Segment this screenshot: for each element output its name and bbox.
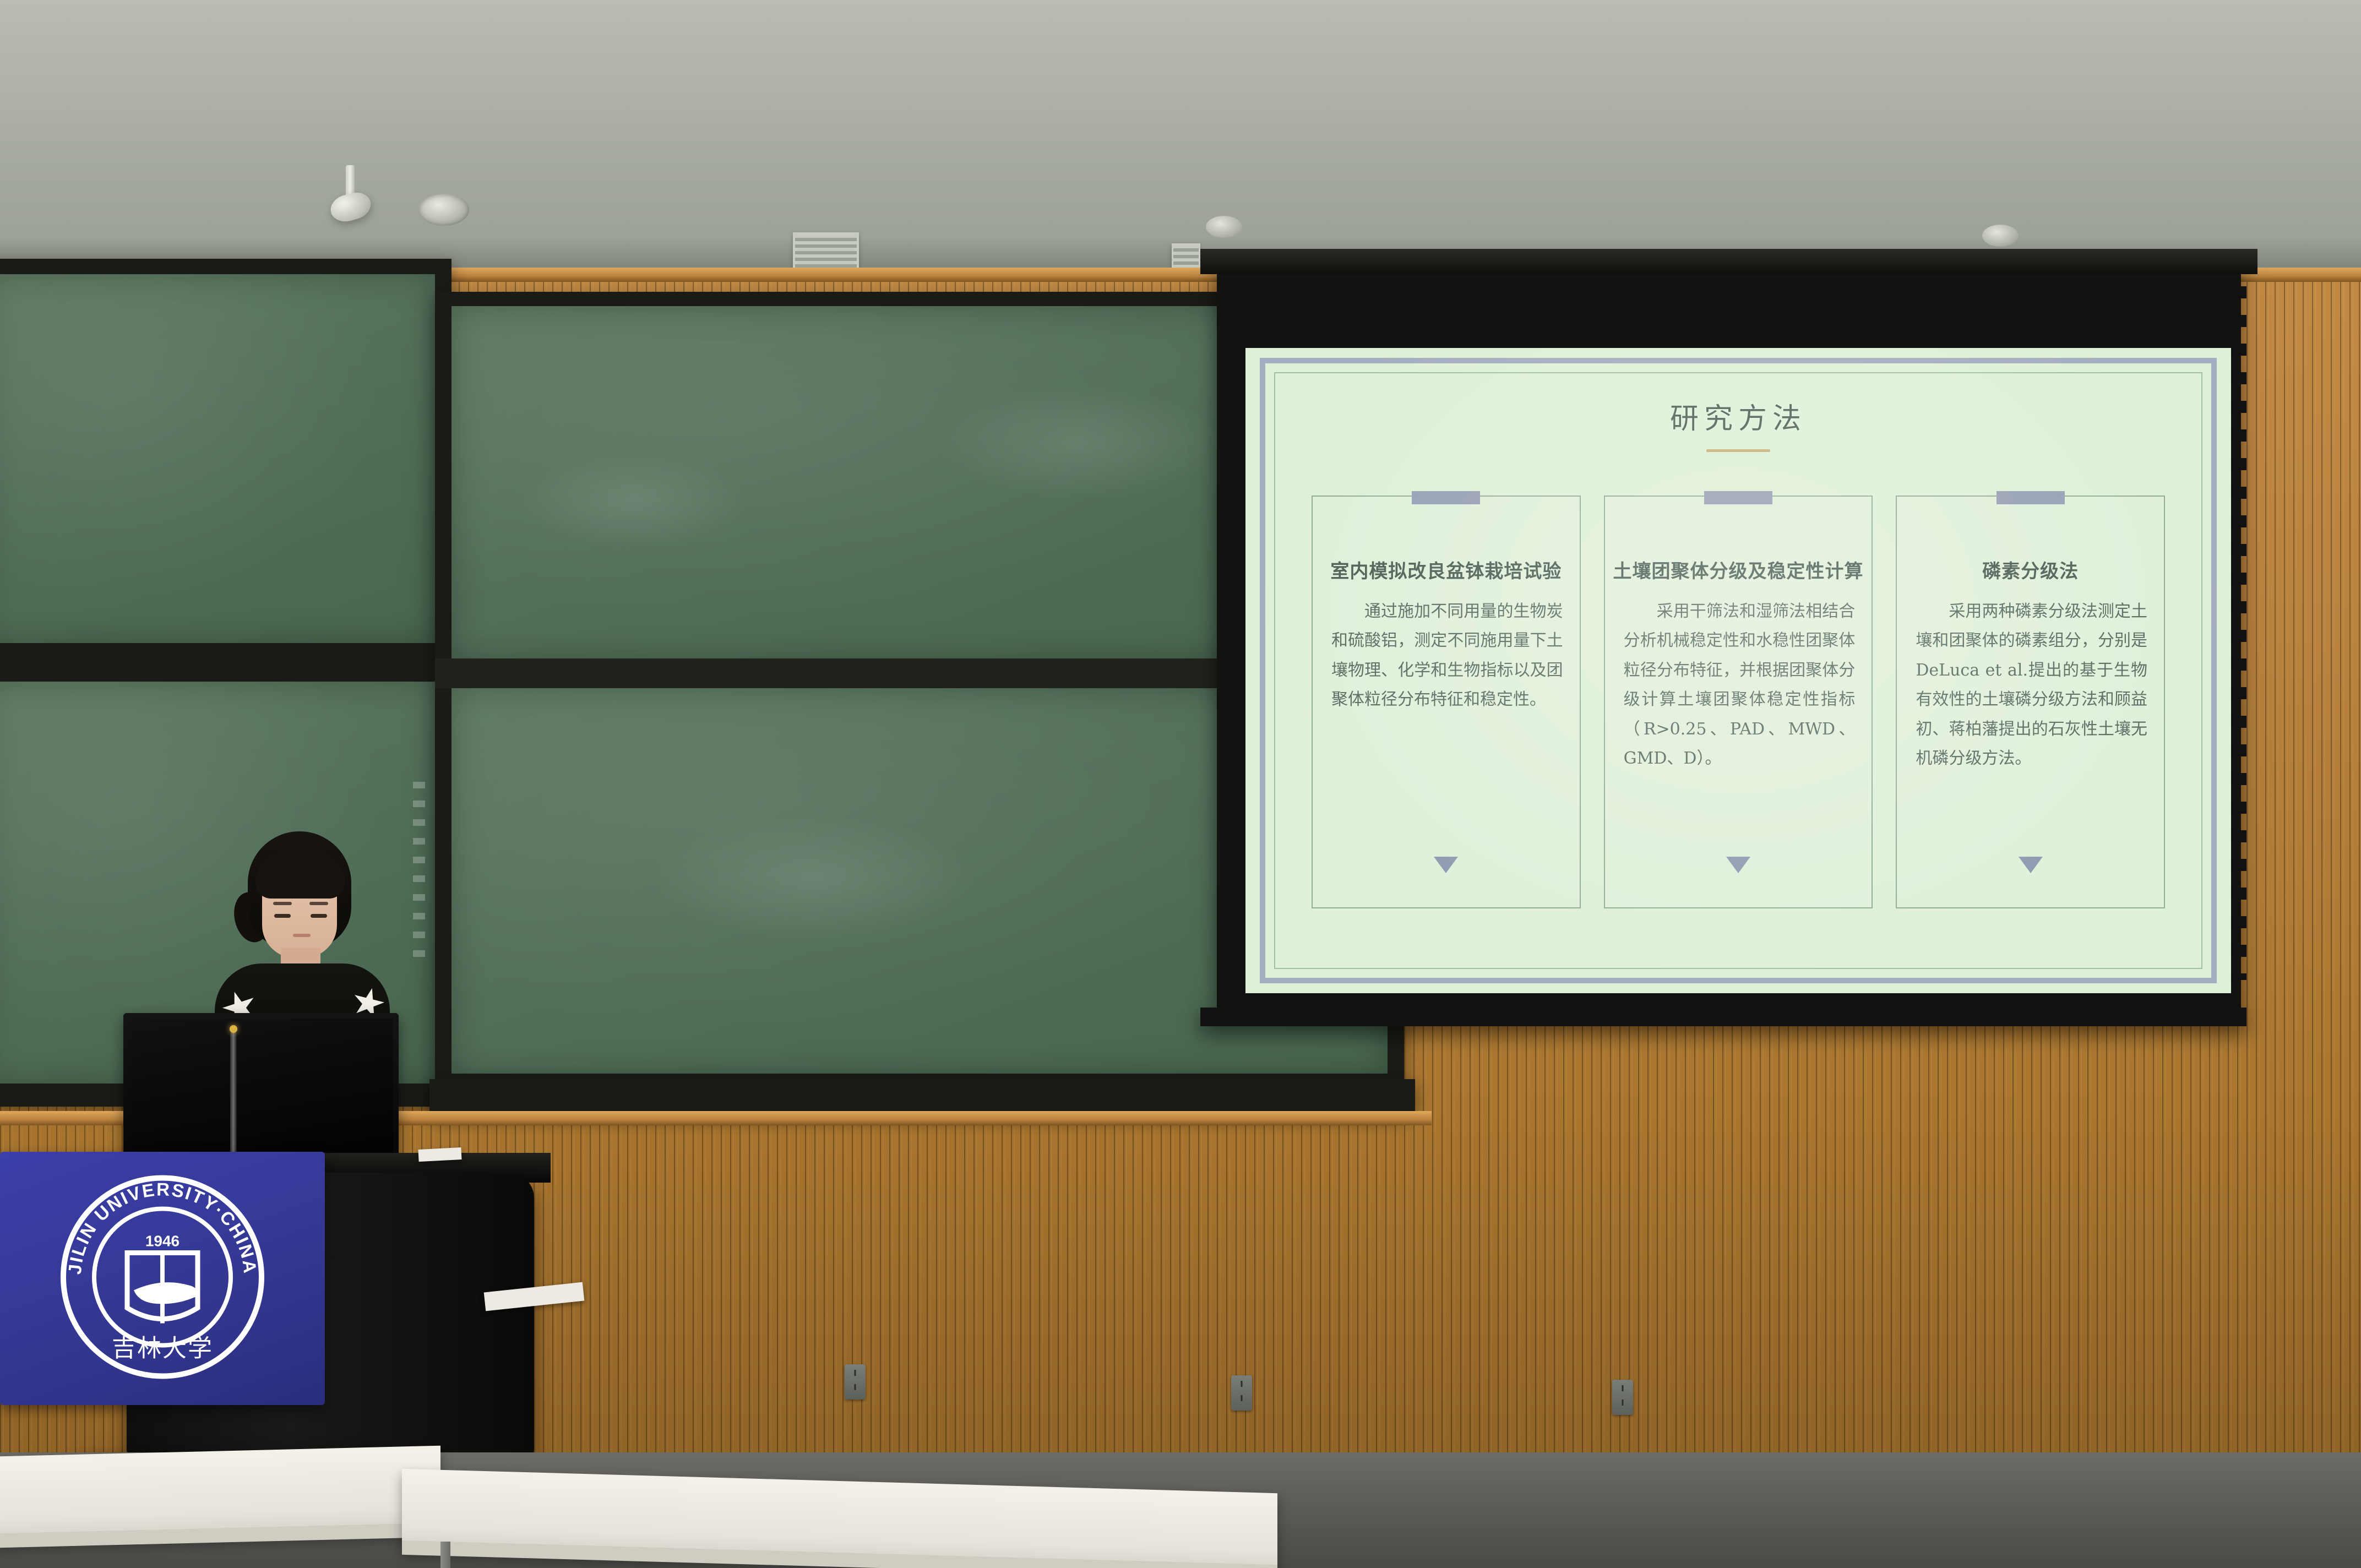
title-underline xyxy=(1706,449,1770,452)
card-tab-icon xyxy=(1412,491,1480,504)
ceiling-speaker-left xyxy=(1206,216,1242,238)
monitor-screen xyxy=(129,1019,393,1173)
method-card-2[interactable]: 土壤团聚体分级及稳定性计算 采用干筛法和湿筛法相结合分析机械稳定性和水稳性团聚体… xyxy=(1604,496,1873,908)
svg-text:1946: 1946 xyxy=(145,1233,179,1250)
slide-title: 研究方法 xyxy=(1245,395,2231,437)
eyebrow-right xyxy=(309,902,328,905)
chevron-down-icon xyxy=(2019,857,2043,873)
method-card-2-body: 采用干筛法和湿筛法相结合分析机械稳定性和水稳性团聚体粒径分布特征，并根据团聚体分… xyxy=(1624,597,1856,773)
track-light-fixture xyxy=(330,165,391,226)
university-seal: JILIN UNIVERSITY·CHINA 1946 吉林大学 xyxy=(52,1167,273,1390)
air-vent xyxy=(793,232,859,273)
chalkboard-panel-left-top xyxy=(0,274,435,643)
svg-text:吉林大学: 吉林大学 xyxy=(112,1335,213,1363)
projection-screen-roller xyxy=(1200,249,2257,274)
chalk-smudge xyxy=(518,451,749,551)
method-card-1-title: 室内模拟改良盆钵栽培试验 xyxy=(1313,556,1580,583)
eyebrow-left xyxy=(273,902,292,905)
chevron-down-icon xyxy=(1434,857,1458,873)
card-tab-icon xyxy=(1704,491,1772,504)
eye-left xyxy=(274,914,291,918)
recessed-light xyxy=(418,194,469,226)
method-card-3-body: 采用两种磷素分级法测定土壤和团聚体的磷素组分，分别是DeLuca et al.提… xyxy=(1916,597,2147,773)
screen-edge-notches xyxy=(2230,286,2246,980)
eye-right xyxy=(311,914,327,918)
chalk-smudge xyxy=(650,815,980,941)
projection-screen-bottom-bar xyxy=(1200,1008,2246,1026)
wall-outlet-3[interactable] xyxy=(1612,1380,1633,1415)
microphone-indicator-light xyxy=(230,1025,237,1033)
presentation-slide: 研究方法 室内模拟改良盆钵栽培试验 通过施加不同用量的生物炭和硫酸铝，测定不同施… xyxy=(1245,348,2231,993)
ceiling-speaker-right xyxy=(1982,225,2019,247)
paper-sheet[interactable] xyxy=(418,1147,461,1162)
chevron-down-icon xyxy=(1726,857,1750,873)
method-card-2-title: 土壤团聚体分级及稳定性计算 xyxy=(1605,556,1872,583)
method-card-1-body: 通过施加不同用量的生物炭和硫酸铝，测定不同施用量下土壤物理、化学和生物指标以及团… xyxy=(1331,597,1563,715)
hair-fringe xyxy=(255,851,345,899)
card-tab-icon xyxy=(1996,491,2065,504)
lecture-hall-photo: 研究方法 室内模拟改良盆钵栽培试验 通过施加不同用量的生物炭和硫酸铝，测定不同施… xyxy=(0,0,2361,1568)
chalkboard-notes xyxy=(413,782,425,958)
projector-mount xyxy=(1172,243,1200,270)
method-card-1[interactable]: 室内模拟改良盆钵栽培试验 通过施加不同用量的生物炭和硫酸铝，测定不同施用量下土壤… xyxy=(1312,496,1581,908)
track-light-head xyxy=(328,189,374,226)
microphone-stem[interactable] xyxy=(230,1031,237,1168)
wall-outlet-2[interactable] xyxy=(1231,1375,1252,1411)
chalk-smudge xyxy=(936,385,1222,501)
wall-outlet-1[interactable] xyxy=(845,1364,866,1400)
mouth xyxy=(293,934,311,937)
podium-front-panel: JILIN UNIVERSITY·CHINA 1946 吉林大学 xyxy=(0,1152,325,1405)
chalk-tray xyxy=(429,1079,1415,1112)
method-card-3[interactable]: 磷素分级法 采用两种磷素分级法测定土壤和团聚体的磷素组分，分别是DeLuca e… xyxy=(1896,496,2165,908)
table-leg xyxy=(440,1542,450,1568)
method-card-3-title: 磷素分级法 xyxy=(1897,556,2164,583)
method-card-group: 室内模拟改良盆钵栽培试验 通过施加不同用量的生物炭和硫酸铝，测定不同施用量下土壤… xyxy=(1312,496,2165,908)
